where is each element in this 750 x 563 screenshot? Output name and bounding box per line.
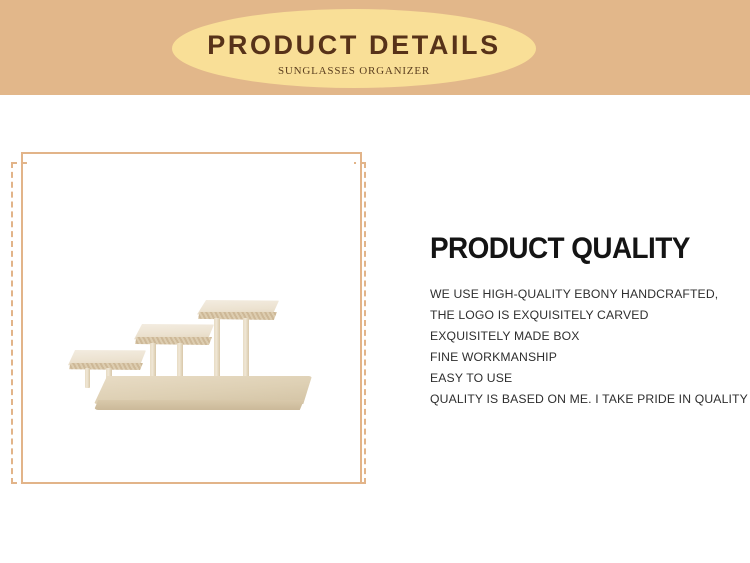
list-item: WE USE HIGH-QUALITY EBONY HANDCRAFTED, [430, 284, 735, 305]
stand-base-front [94, 400, 304, 410]
shelf-edge-tier3 [198, 312, 277, 320]
list-item: EXQUISITELY MADE BOX [430, 326, 735, 347]
page-subtitle: SUNGLASSES ORGANIZER [172, 65, 536, 78]
stand-base-top [94, 376, 312, 404]
list-item: FINE WORKMANSHIP [430, 347, 735, 368]
wooden-display-stand-illustration [58, 300, 326, 425]
list-item: QUALITY IS BASED ON ME. I TAKE PRIDE IN … [430, 389, 735, 410]
product-photo [30, 160, 354, 476]
header-banner: PRODUCT DETAILS SUNGLASSES ORGANIZER [0, 0, 750, 95]
product-quality-section: PRODUCT QUALITY WE USE HIGH-QUALITY EBON… [430, 232, 735, 410]
product-image-frame [0, 110, 400, 510]
shelf-edge-tier2 [135, 337, 212, 345]
product-detail-page: PRODUCT DETAILS SUNGLASSES ORGANIZER [0, 0, 750, 563]
list-item: EASY TO USE [430, 368, 735, 389]
section-heading: PRODUCT QUALITY [430, 232, 714, 266]
page-title: PRODUCT DETAILS [172, 30, 536, 61]
list-item: THE LOGO IS EXQUISITELY CARVED [430, 305, 735, 326]
shelf-leg-tier1-left [85, 368, 90, 388]
quality-bullet-list: WE USE HIGH-QUALITY EBONY HANDCRAFTED, T… [430, 284, 735, 410]
